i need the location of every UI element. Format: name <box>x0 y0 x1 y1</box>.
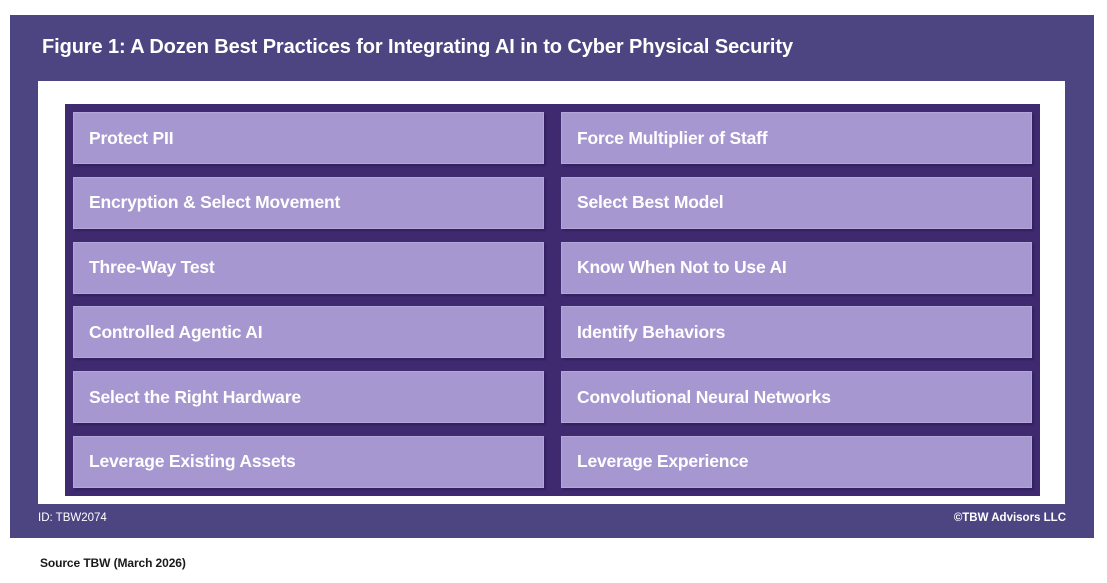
practice-box[interactable]: Convolutional Neural Networks <box>561 371 1032 423</box>
left-column: Protect PII Encryption & Select Movement… <box>73 112 544 488</box>
figure-footer: ID: TBW2074 ©TBW Advisors LLC <box>10 504 1094 538</box>
figure-title: Figure 1: A Dozen Best Practices for Int… <box>42 27 1062 67</box>
practice-label: Select Best Model <box>577 192 723 213</box>
practice-label: Protect PII <box>89 128 173 149</box>
practice-box[interactable]: Encryption & Select Movement <box>73 177 544 229</box>
practice-box[interactable]: Leverage Experience <box>561 436 1032 488</box>
practices-container: Protect PII Encryption & Select Movement… <box>65 104 1040 496</box>
practices-grid: Protect PII Encryption & Select Movement… <box>73 112 1032 488</box>
source-note: Source TBW (March 2026) <box>40 556 186 570</box>
figure-panel: Figure 1: A Dozen Best Practices for Int… <box>10 15 1094 538</box>
practice-label: Controlled Agentic AI <box>89 322 262 343</box>
inner-white-frame: Protect PII Encryption & Select Movement… <box>38 81 1065 504</box>
practice-box[interactable]: Select Best Model <box>561 177 1032 229</box>
practice-label: Know When Not to Use AI <box>577 257 787 278</box>
figure-root: Figure 1: A Dozen Best Practices for Int… <box>0 0 1107 583</box>
practice-box[interactable]: Three-Way Test <box>73 242 544 294</box>
practice-label: Encryption & Select Movement <box>89 192 340 213</box>
practice-label: Three-Way Test <box>89 257 215 278</box>
right-column: Force Multiplier of Staff Select Best Mo… <box>561 112 1032 488</box>
practice-box[interactable]: Force Multiplier of Staff <box>561 112 1032 164</box>
practice-label: Leverage Experience <box>577 451 748 472</box>
practice-label: Identify Behaviors <box>577 322 725 343</box>
practice-box[interactable]: Controlled Agentic AI <box>73 306 544 358</box>
practice-box[interactable]: Protect PII <box>73 112 544 164</box>
practice-label: Force Multiplier of Staff <box>577 128 767 149</box>
practice-box[interactable]: Identify Behaviors <box>561 306 1032 358</box>
practice-box[interactable]: Know When Not to Use AI <box>561 242 1032 294</box>
practice-box[interactable]: Select the Right Hardware <box>73 371 544 423</box>
figure-id: ID: TBW2074 <box>38 512 107 524</box>
practice-label: Leverage Existing Assets <box>89 451 296 472</box>
copyright-notice: ©TBW Advisors LLC <box>954 512 1066 524</box>
practice-label: Convolutional Neural Networks <box>577 387 831 408</box>
practice-box[interactable]: Leverage Existing Assets <box>73 436 544 488</box>
practice-label: Select the Right Hardware <box>89 387 301 408</box>
